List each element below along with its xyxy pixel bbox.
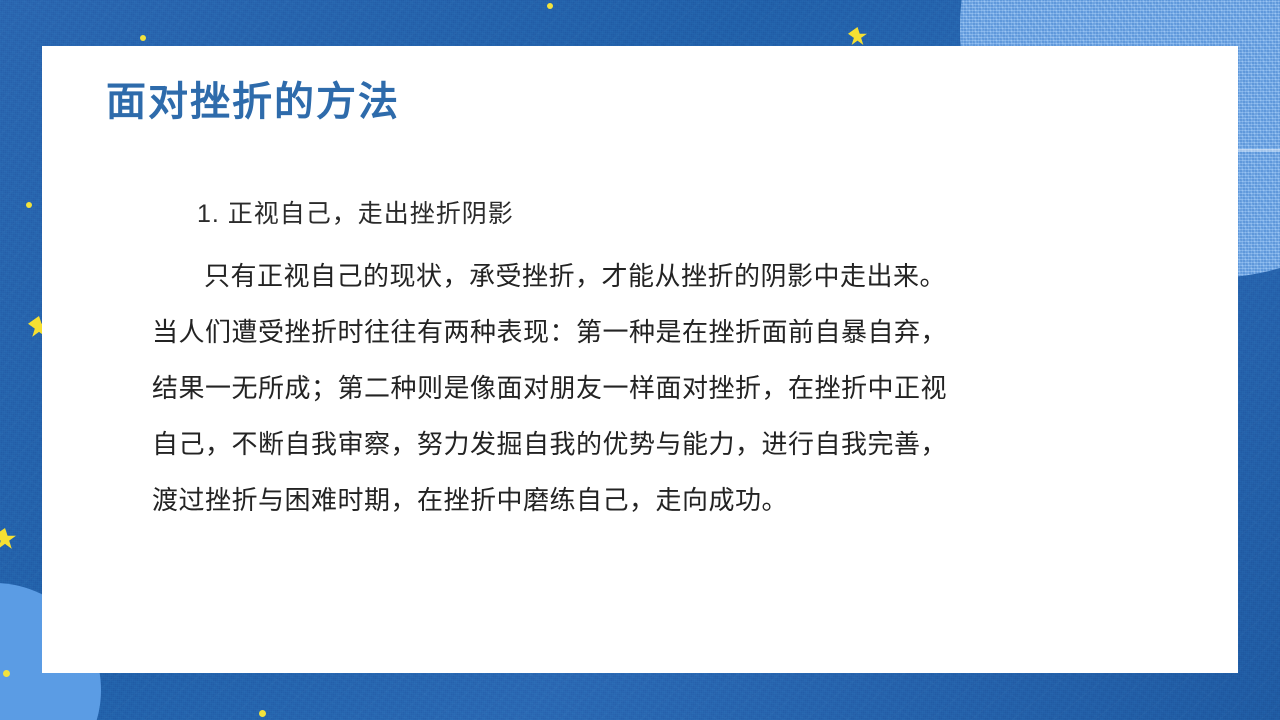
- body-paragraph-line-1: 只有正视自己的现状，承受挫折，才能从挫折的阴影中走出来。: [152, 248, 1152, 304]
- dot-icon-left-upper: [26, 202, 32, 208]
- body-heading: 1. 正视自己，走出挫折阴影: [197, 194, 1152, 234]
- dot-icon-top-mid: [547, 3, 553, 9]
- dot-icon-top-left: [140, 35, 146, 41]
- presentation-slide: 面对挫折的方法 1. 正视自己，走出挫折阴影 只有正视自己的现状，承受挫折，才能…: [0, 0, 1280, 720]
- body-paragraph-line-5: 渡过挫折与困难时期，在挫折中磨练自己，走向成功。: [152, 472, 1152, 528]
- body-paragraph-line-4: 自己，不断自我审察，努力发掘自我的优势与能力，进行自我完善，: [152, 416, 1152, 472]
- body-paragraph-line-2: 当人们遭受挫折时往往有两种表现：第一种是在挫折面前自暴自弃，: [152, 304, 1152, 360]
- dot-icon-bottom-left: [3, 670, 10, 677]
- dot-icon-bottom-center: [259, 710, 266, 717]
- slide-title: 面对挫折的方法: [106, 69, 400, 127]
- content-card: 面对挫折的方法 1. 正视自己，走出挫折阴影 只有正视自己的现状，承受挫折，才能…: [42, 46, 1238, 673]
- body-paragraph-line-3: 结果一无所成；第二种则是像面对朋友一样面对挫折，在挫折中正视: [152, 360, 1152, 416]
- slide-body: 1. 正视自己，走出挫折阴影 只有正视自己的现状，承受挫折，才能从挫折的阴影中走…: [152, 194, 1152, 528]
